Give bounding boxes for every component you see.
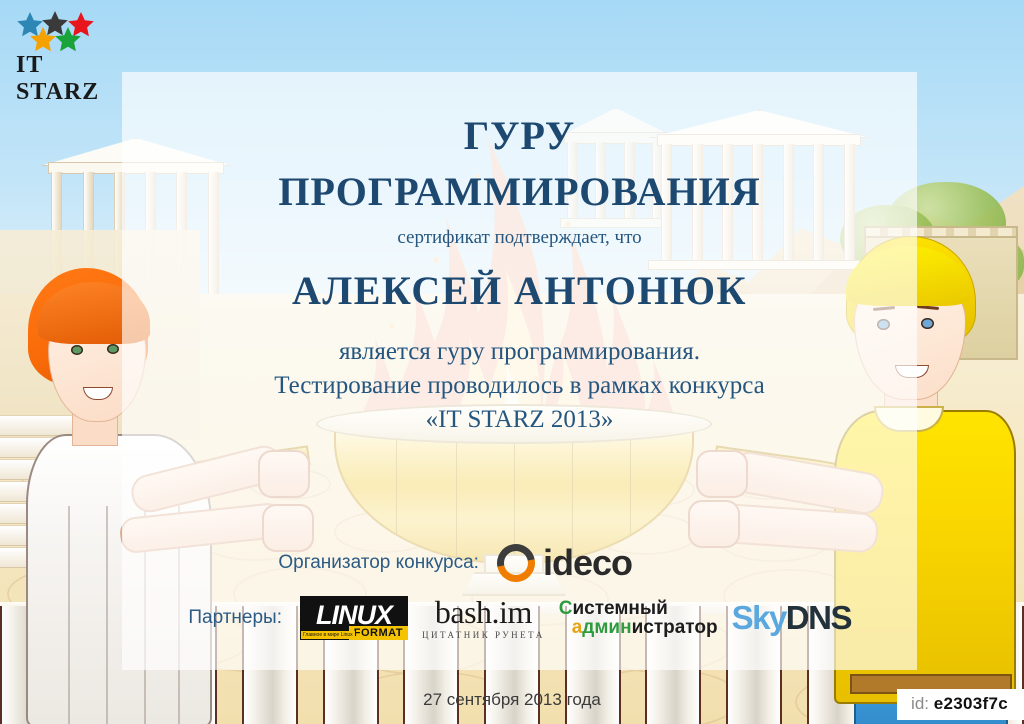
partners-label: Партнеры: — [152, 607, 282, 629]
bashim-logo: bash.im ЦИТАТНИК РУНЕТА — [422, 596, 545, 640]
partners-row: Партнеры: LINUX FORMAT Главное в мире Li… — [152, 596, 917, 640]
star-cluster — [14, 10, 114, 54]
sysadmin-line-1: Системный — [559, 599, 718, 618]
skydns-logo: SkyDNS — [732, 599, 851, 637]
body-line-3: «IT STARZ 2013» — [122, 403, 917, 437]
sysadmin-l1-green: С — [559, 598, 573, 619]
linux-format-tagline: Главное в мире Linux — [301, 631, 355, 639]
eye — [921, 318, 934, 329]
sysadmin-l2-orange: а — [572, 617, 583, 638]
skydns-dns: DNS — [786, 599, 851, 636]
certificate-title-line2: ПРОГРАММИРОВАНИЯ — [122, 168, 917, 215]
it-starz-logo: IT STARZ — [14, 10, 118, 84]
certificate-id-badge: id: e2303f7c — [897, 689, 1024, 720]
certificate-content: ГУРУ ПРОГРАММИРОВАНИЯ сертификат подтвер… — [122, 72, 917, 670]
body-line-2: Тестирование проводилось в рамках конкур… — [122, 369, 917, 403]
certificate-canvas: IT STARZ ГУРУ ПРОГРАММИРОВАНИЯ сертифика… — [0, 0, 1024, 724]
ideco-ring-icon — [490, 537, 543, 590]
certificate-date: 27 сентября 2013 года — [0, 690, 1024, 710]
sysadmin-l1-dark: истемный — [572, 598, 667, 619]
linux-format-logo: LINUX FORMAT Главное в мире Linux — [300, 596, 408, 640]
organizer-label: Организатор конкурса: — [278, 552, 479, 574]
confirmation-text: сертификат подтверждает, что — [122, 227, 917, 249]
sysadmin-logo: Системный администратор — [559, 599, 718, 638]
eye — [71, 345, 83, 355]
bashim-subtitle: ЦИТАТНИК РУНЕТА — [422, 630, 545, 640]
linux-format-badge: FORMAT — [349, 626, 408, 640]
ideco-logo: ideco — [497, 542, 632, 584]
ideco-wordmark: ideco — [543, 542, 632, 584]
sysadmin-l2-green: дмин — [582, 617, 631, 638]
id-label: id: — [911, 694, 929, 713]
certificate-title-line1: ГУРУ — [122, 112, 917, 159]
logo-wordmark: IT STARZ — [16, 52, 118, 106]
sysadmin-l2-dark: истратор — [632, 617, 718, 638]
id-value: e2303f7c — [934, 694, 1008, 713]
five-stars-icon — [14, 10, 114, 56]
certificate-body: является гуру программирования. Тестиров… — [122, 335, 917, 437]
sysadmin-line-2: администратор — [559, 618, 718, 637]
mouth — [83, 387, 113, 400]
eye — [107, 344, 119, 354]
recipient-name: АЛЕКСЕЙ АНТОНЮК — [122, 267, 917, 314]
body-line-1: является гуру программирования. — [122, 335, 917, 369]
skydns-sky: Sky — [732, 599, 786, 636]
organizer-row: Организатор конкурса: ideco — [152, 542, 632, 584]
bashim-wordmark: bash.im — [435, 596, 532, 628]
